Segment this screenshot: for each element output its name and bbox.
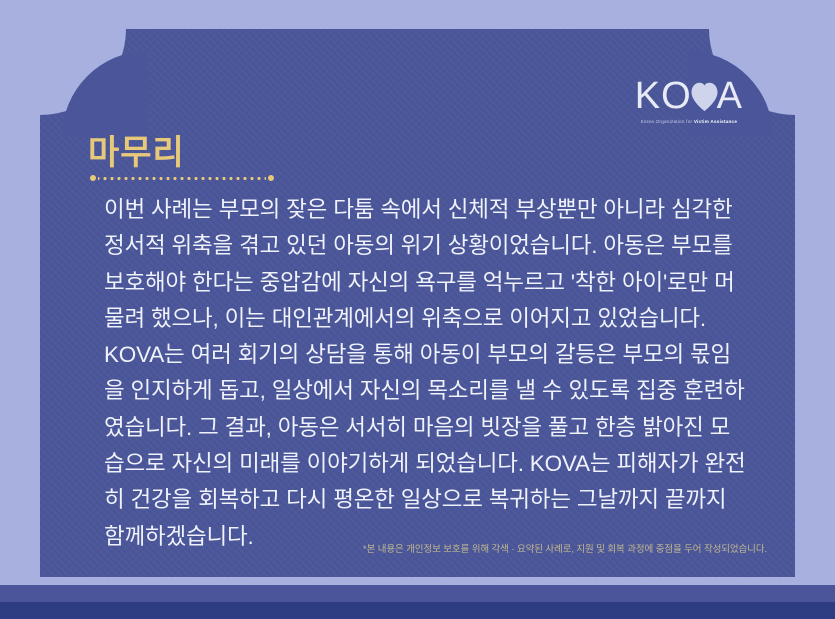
frame-band-middle <box>0 585 835 602</box>
body-line: 을 인지하게 돕고, 일상에서 자신의 목소리를 낼 수 있도록 집중 훈련하 <box>104 373 795 409</box>
body-line: 보호해야 한다는 중압감에 자신의 욕구를 억누르고 '착한 아이'로만 머 <box>104 265 795 301</box>
body-line: 였습니다. 그 결과, 아동은 서서히 마음의 빗장을 풀고 한층 밝아진 모 <box>104 410 795 446</box>
kova-logo-text-ko: KO <box>635 77 692 115</box>
heart-icon <box>691 81 718 111</box>
kova-tagline-prefix: Korea Organization for <box>641 119 694 124</box>
body-line: 습으로 자신의 미래를 이야기하게 되었습니다. KOVA는 피해자가 완전 <box>104 446 795 482</box>
slide-root: KO A Korea Organization for Victim Assis… <box>0 0 835 619</box>
divider-dot-line <box>98 177 266 180</box>
content-card: KO A Korea Organization for Victim Assis… <box>40 29 795 577</box>
dotted-divider <box>90 175 274 181</box>
frame-band-bottom <box>0 602 835 619</box>
footnote: *본 내용은 개인정보 보호를 위해 각색 · 요약된 사례로, 지원 및 회복… <box>363 541 767 555</box>
kova-logo-wordmark: KO A <box>635 77 743 115</box>
body-text: 이번 사례는 부모의 잦은 다툼 속에서 신체적 부상뿐만 아니라 심각한 정서… <box>104 192 795 555</box>
kova-logo: KO A Korea Organization for Victim Assis… <box>635 77 743 125</box>
kova-tagline-bold: Victim Assistance <box>694 119 737 124</box>
divider-dot-start <box>90 175 96 181</box>
kova-logo-tagline: Korea Organization for Victim Assistance <box>635 120 743 125</box>
body-line: 이번 사례는 부모의 잦은 다툼 속에서 신체적 부상뿐만 아니라 심각한 <box>104 192 795 228</box>
divider-dot-end <box>268 175 274 181</box>
body-line: 정서적 위축을 겪고 있던 아동의 위기 상황이었습니다. 아동은 부모를 <box>104 228 795 264</box>
body-line: 히 건강을 회복하고 다시 평온한 일상으로 복귀하는 그날까지 끝까지 <box>104 482 795 518</box>
kova-logo-text-a: A <box>717 77 743 115</box>
page-title: 마무리 <box>88 125 185 174</box>
body-line: KOVA는 여러 회기의 상담을 통해 아동이 부모의 갈등은 부모의 몫임 <box>104 337 795 373</box>
body-line: 물려 했으나, 이는 대인관계에서의 위축으로 이어지고 있었습니다. <box>104 301 795 337</box>
